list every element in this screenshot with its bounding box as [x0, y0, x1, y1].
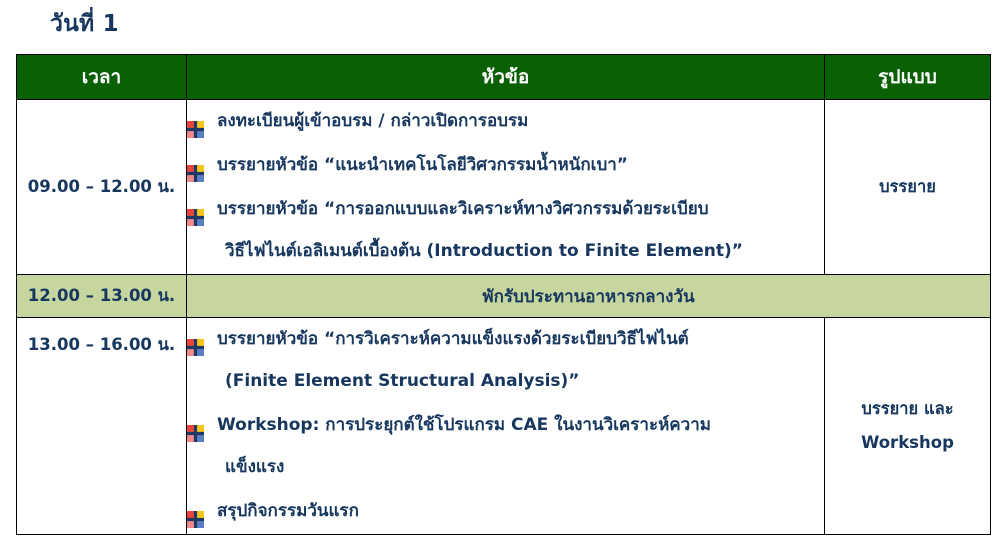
cell-topic: บรรยายหัวข้อ “การวิเคราะห์ความแข็งแรงด้ว…	[187, 318, 825, 535]
list-item-label: สรุปกิจกรรมวันแรก	[217, 501, 359, 521]
list-item-label: บรรยายหัวข้อ “การวิเคราะห์ความแข็งแรงด้ว…	[217, 329, 689, 349]
list-item-label: Workshop: การประยุกต์ใช้โปรแกรม CAE ในงา…	[217, 415, 711, 435]
list-item-label-continued: วิธีไฟไนต์เอลิเมนต์เบื้องต้น (Introducti…	[217, 230, 824, 272]
colored-cross-bullet-icon	[187, 112, 204, 129]
column-header-format: รูปแบบ	[825, 55, 991, 100]
cell-lunch-label: พักรับประทานอาหารกลางวัน	[187, 275, 991, 318]
list-item: บรรยายหัวข้อ “การออกแบบและวิเคราะห์ทางวิ…	[187, 188, 824, 272]
colored-cross-bullet-icon	[187, 502, 204, 519]
list-item-label: บรรยายหัวข้อ “แนะนำเทคโนโลยีวิศวกรรมน้ำห…	[217, 155, 628, 175]
list-item-label-continued: แข็งแรง	[217, 446, 824, 488]
list-item: Workshop: การประยุกต์ใช้โปรแกรม CAE ในงา…	[187, 404, 824, 488]
table-row: 13.00 – 16.00 น.	[17, 318, 991, 535]
schedule-table: เวลา หัวข้อ รูปแบบ 09.00 – 12.00 น.	[16, 54, 991, 535]
table-row-lunch: 12.00 – 13.00 น. พักรับประทานอาหารกลางวั…	[17, 275, 991, 318]
colored-cross-bullet-icon	[187, 200, 204, 217]
cell-format: บรรยาย	[825, 100, 991, 275]
list-item: สรุปกิจกรรมวันแรก	[187, 490, 824, 532]
cell-format: บรรยาย และ Workshop	[825, 318, 991, 535]
cell-time: 13.00 – 16.00 น.	[17, 318, 187, 535]
table-row: 09.00 – 12.00 น.	[17, 100, 991, 275]
page-title: วันที่ 1	[50, 10, 119, 38]
cell-time: 09.00 – 12.00 น.	[17, 100, 187, 275]
cell-format-line-2: Workshop	[825, 426, 990, 460]
column-header-topic: หัวข้อ	[187, 55, 825, 100]
table-header-row: เวลา หัวข้อ รูปแบบ	[17, 55, 991, 100]
column-header-time: เวลา	[17, 55, 187, 100]
colored-cross-bullet-icon	[187, 330, 204, 347]
cell-format-line-1: บรรยาย และ	[825, 392, 990, 426]
list-item: บรรยายหัวข้อ “การวิเคราะห์ความแข็งแรงด้ว…	[187, 318, 824, 402]
list-item: บรรยายหัวข้อ “แนะนำเทคโนโลยีวิศวกรรมน้ำห…	[187, 144, 824, 186]
colored-cross-bullet-icon	[187, 156, 204, 173]
slide-page: วันที่ 1 เวลา หัวข้อ รูปแบบ 09.00 – 12.0…	[0, 0, 1006, 556]
list-item-label-continued: (Finite Element Structural Analysis)”	[217, 360, 824, 402]
cell-topic: ลงทะเบียนผู้เข้าอบรม / กล่าวเปิดการอบรม	[187, 100, 825, 275]
list-item-label: บรรยายหัวข้อ “การออกแบบและวิเคราะห์ทางวิ…	[217, 199, 709, 219]
colored-cross-bullet-icon	[187, 416, 204, 433]
list-item: ลงทะเบียนผู้เข้าอบรม / กล่าวเปิดการอบรม	[187, 100, 824, 142]
bullet-list: ลงทะเบียนผู้เข้าอบรม / กล่าวเปิดการอบรม	[187, 100, 824, 272]
list-item-label: ลงทะเบียนผู้เข้าอบรม / กล่าวเปิดการอบรม	[217, 111, 528, 131]
cell-time: 12.00 – 13.00 น.	[17, 275, 187, 318]
bullet-list: บรรยายหัวข้อ “การวิเคราะห์ความแข็งแรงด้ว…	[187, 318, 824, 532]
